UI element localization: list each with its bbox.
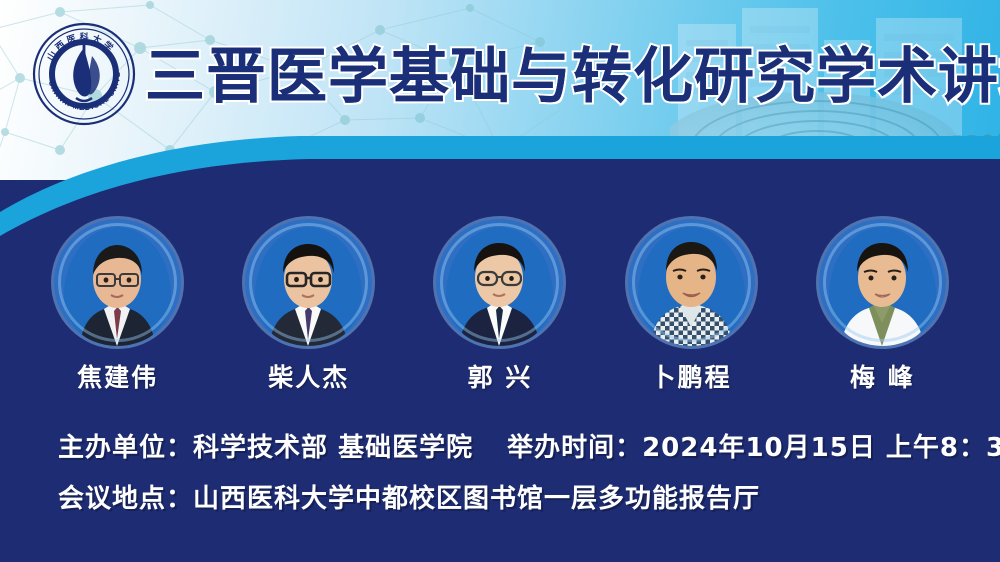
speaker-name: 柴人杰 xyxy=(268,358,349,394)
speaker-card[interactable]: 卜鹏程 xyxy=(616,219,766,394)
speaker-name: 焦建伟 xyxy=(77,358,158,394)
speaker-avatar-ring xyxy=(819,219,946,346)
speaker-avatar-ring xyxy=(245,219,372,346)
poster-body: 焦建伟 xyxy=(0,205,1000,562)
speakers-row: 焦建伟 xyxy=(0,219,1000,409)
speaker-card[interactable]: 柴人杰 xyxy=(234,219,384,394)
avatar xyxy=(638,227,745,346)
poster-canvas: SHANXI MEDICAL UNIVERSITY 山西医科大学 xyxy=(0,0,1000,562)
speaker-card[interactable]: 梅 峰 xyxy=(807,219,957,394)
info-line-organizer-time: 主办单位：科学技术部 基础医学院举办时间：2024年10月15日 上午8：30 xyxy=(58,427,958,464)
time-label: 举办时间： xyxy=(507,433,642,463)
speaker-card[interactable]: 焦建伟 xyxy=(43,219,193,394)
speaker-avatar-ring xyxy=(54,219,181,346)
time-value: 2024年10月15日 上午8：30 xyxy=(642,433,1000,463)
speaker-name: 郭 兴 xyxy=(468,358,533,394)
speaker-name: 梅 峰 xyxy=(850,358,915,394)
speaker-avatar-ring xyxy=(436,219,563,346)
venue-label: 会议地点： xyxy=(58,484,193,514)
speaker-avatar-ring xyxy=(628,219,755,346)
speaker-name: 卜鹏程 xyxy=(651,358,732,394)
venue-value: 山西医科大学中都校区图书馆一层多功能报告厅 xyxy=(193,484,760,514)
avatar xyxy=(255,227,362,346)
organizer-label: 主办单位： xyxy=(58,433,193,463)
avatar xyxy=(446,227,553,346)
avatar xyxy=(829,227,936,346)
info-line-venue: 会议地点：山西医科大学中都校区图书馆一层多功能报告厅 xyxy=(58,478,958,515)
organizer-value: 科学技术部 基础医学院 xyxy=(193,433,473,463)
event-info: 主办单位：科学技术部 基础医学院举办时间：2024年10月15日 上午8：30 … xyxy=(58,427,958,529)
speaker-card[interactable]: 郭 兴 xyxy=(425,219,575,394)
avatar xyxy=(64,227,171,346)
